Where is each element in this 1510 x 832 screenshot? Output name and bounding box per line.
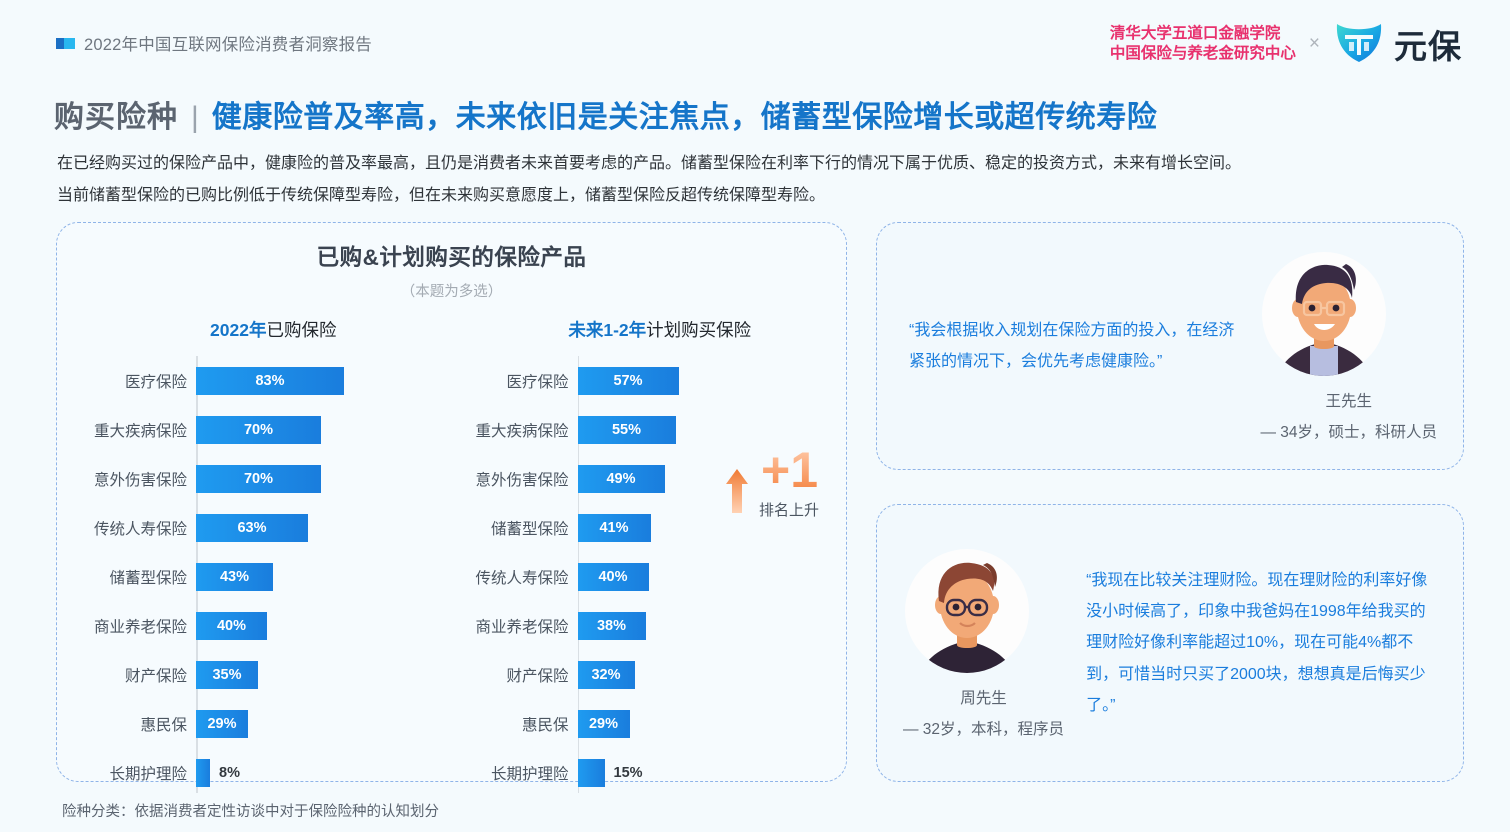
quote-person-meta: — 34岁，硕士，科研人员: [1260, 420, 1437, 442]
chart-bar-value: 55%: [612, 422, 641, 438]
chart-header-left-bold: 2022年: [210, 320, 266, 340]
up-arrow-icon: [725, 467, 749, 520]
chart-bar-track: 55%: [578, 416, 847, 444]
chart-bar-label: 惠民保: [452, 713, 569, 735]
chart-bar-value: 57%: [613, 373, 642, 389]
chart-bar: 57%: [578, 367, 679, 395]
quote-person-name: 周先生: [903, 686, 1064, 708]
chart-bar-label: 财产保险: [57, 664, 187, 686]
chart-bar-track: 40%: [196, 612, 452, 640]
chart-bar-value: 70%: [244, 422, 273, 438]
chart-bar-value: 70%: [244, 471, 273, 487]
partner-line-1: 清华大学五道口金融学院: [1110, 24, 1296, 44]
chart-bar: 55%: [578, 416, 676, 444]
chart-bar-track: 83%: [196, 367, 452, 395]
chart-bar-row: 商业养老保险40%: [57, 601, 452, 650]
quote-card-2-inner: 周先生 — 32岁，本科，程序员 “我现在比较关注理财险。现在理财险的利率好像没…: [877, 505, 1463, 781]
chart-bar: 35%: [196, 661, 258, 689]
chart-bar: 49%: [578, 465, 665, 493]
avatar-male-dark-hair-icon: [1260, 250, 1388, 383]
quote-text: “我会根据收入规划在保险方面的投入，在经济紧张的情况下，会优先考虑健康险。”: [909, 315, 1260, 377]
chart-bar-track: 40%: [578, 563, 847, 591]
chart-bar-label: 储蓄型保险: [452, 517, 569, 539]
chart-bar-label: 商业养老保险: [452, 615, 569, 637]
chart-bar: 70%: [196, 416, 321, 444]
partner-name: 清华大学五道口金融学院 中国保险与养老金研究中心: [1110, 24, 1296, 64]
chart-bar-track: 70%: [196, 465, 452, 493]
chart-bar-row: 长期护理险8%: [57, 748, 452, 797]
chart-bar-track: 38%: [578, 612, 847, 640]
chart-bar-value: 63%: [237, 520, 266, 536]
chart-bar-value: 35%: [212, 667, 241, 683]
chart-bar-label: 传统人寿保险: [57, 517, 187, 539]
chart-bar-value: 40%: [217, 618, 246, 634]
chart-card: 已购&计划购买的保险产品 （本题为多选） 2022年已购保险 未来1-2年计划购…: [56, 222, 847, 782]
chart-panel-planned: 医疗保险57%重大疾病保险55%意外伤害保险49%储蓄型保险41%传统人寿保险4…: [452, 356, 847, 797]
lead-paragraph: 在已经购买过的保险产品中，健康险的普及率最高，且仍是消费者未来首要考虑的产品。储…: [57, 148, 1467, 212]
chart-subtitle: （本题为多选）: [57, 280, 846, 301]
chart-bar-value: 32%: [591, 667, 620, 683]
chart-header-right-bold: 未来1-2年: [568, 320, 646, 340]
chart-header-left-rest: 已购保险: [266, 320, 336, 340]
chart-bar-track: 57%: [578, 367, 847, 395]
quote-card-1-inner: “我会根据收入规划在保险方面的投入，在经济紧张的情况下，会优先考虑健康险。”: [877, 223, 1463, 469]
double-square-icon: [56, 38, 75, 49]
chart-bar-row: 惠民保29%: [452, 699, 847, 748]
brand-logo: 元保: [1333, 18, 1462, 69]
chart-bar-label: 传统人寿保险: [452, 566, 569, 588]
chart-bar-track: 29%: [578, 710, 847, 738]
chart-bar-value: 15%: [614, 765, 643, 781]
chart-bar-label: 意外伤害保险: [452, 468, 569, 490]
header-right: 清华大学五道口金融学院 中国保险与养老金研究中心 × 元保: [1110, 18, 1462, 69]
title-divider: |: [191, 101, 199, 135]
chart-bar-value: 8%: [219, 765, 240, 781]
lead-line-2: 当前储蓄型保险的已购比例低于传统保障型寿险，但在未来购买意愿度上，储蓄型保险反超…: [57, 180, 1467, 212]
chart-bar-label: 长期护理险: [452, 762, 569, 784]
chart-bar-value: 43%: [220, 569, 249, 585]
chart-bar-row: 财产保险35%: [57, 650, 452, 699]
shield-logo-icon: [1333, 18, 1385, 69]
chart-bar-row: 传统人寿保险40%: [452, 552, 847, 601]
chart-bar: 29%: [578, 710, 630, 738]
chart-bar-label: 储蓄型保险: [57, 566, 187, 588]
rank-up-value: +1: [761, 445, 818, 495]
chart-bar: 40%: [196, 612, 267, 640]
title-keyword: 购买险种: [54, 92, 178, 136]
chart-header-left: 2022年已购保险: [57, 317, 460, 342]
chart-bar: [578, 759, 605, 787]
chart-bar-label: 医疗保险: [452, 370, 569, 392]
chart-bar-track: 63%: [196, 514, 452, 542]
rank-up-label: 排名上升: [759, 499, 819, 520]
chart-bar-value: 29%: [589, 716, 618, 732]
chart-bar-row: 重大疾病保险70%: [57, 405, 452, 454]
chart-bar: 83%: [196, 367, 344, 395]
chart-bar-row: 财产保险32%: [452, 650, 847, 699]
title-main: 健康险普及率高，未来依旧是关注焦点，储蓄型保险增长或超传统寿险: [212, 92, 1158, 136]
avatar-male-brown-hair-icon: [903, 547, 1031, 680]
slide-page: 2022年中国互联网保险消费者洞察报告 清华大学五道口金融学院 中国保险与养老金…: [0, 0, 1510, 832]
chart-bar-value: 41%: [599, 520, 628, 536]
quote-card-1: “我会根据收入规划在保险方面的投入，在经济紧张的情况下，会优先考虑健康险。”: [876, 222, 1464, 470]
chart-bar-track: 32%: [578, 661, 847, 689]
chart-bar-track: 29%: [196, 710, 452, 738]
chart-title: 已购&计划购买的保险产品: [57, 240, 846, 272]
chart-bar-track: 35%: [196, 661, 452, 689]
chart-bar-row: 商业养老保险38%: [452, 601, 847, 650]
chart-bar-row: 医疗保险83%: [57, 356, 452, 405]
collab-separator: ×: [1309, 33, 1320, 55]
header-left: 2022年中国互联网保险消费者洞察报告: [56, 31, 372, 55]
quote-person: 王先生 — 34岁，硕士，科研人员: [1260, 250, 1437, 442]
chart-bar-row: 储蓄型保险43%: [57, 552, 452, 601]
quote-person: 周先生 — 32岁，本科，程序员: [903, 547, 1064, 739]
chart-bar: 38%: [578, 612, 646, 640]
chart-bar: 63%: [196, 514, 308, 542]
quote-person-name: 王先生: [1260, 389, 1437, 411]
chart-bar-label: 惠民保: [57, 713, 187, 735]
chart-bar-label: 重大疾病保险: [452, 419, 569, 441]
chart-bar: 29%: [196, 710, 248, 738]
chart-bar-label: 财产保险: [452, 664, 569, 686]
chart-bar: 40%: [578, 563, 649, 591]
chart-bar: 41%: [578, 514, 651, 542]
quote-person-meta: — 32岁，本科，程序员: [903, 717, 1064, 739]
chart-bar-value: 40%: [598, 569, 627, 585]
chart-bar: 70%: [196, 465, 321, 493]
footnote: 险种分类：依据消费者定性访谈中对于保险险种的认知划分: [62, 800, 439, 821]
chart-column-headers: 2022年已购保险 未来1-2年计划购买保险: [57, 317, 846, 342]
chart-bar-label: 意外伤害保险: [57, 468, 187, 490]
chart-bar-row: 医疗保险57%: [452, 356, 847, 405]
rank-up-annotation: +1 排名上升: [717, 451, 845, 533]
chart-bar-value: 29%: [207, 716, 236, 732]
page-title: 购买险种 | 健康险普及率高，未来依旧是关注焦点，储蓄型保险增长或超传统寿险: [54, 92, 1157, 136]
chart-bar-label: 商业养老保险: [57, 615, 187, 637]
chart-bar-track: 8%: [196, 759, 452, 787]
chart-header-right: 未来1-2年计划购买保险: [460, 317, 847, 342]
chart-bar-label: 重大疾病保险: [57, 419, 187, 441]
chart-bar-row: 惠民保29%: [57, 699, 452, 748]
chart-bar-track: 70%: [196, 416, 452, 444]
brand-name: 元保: [1394, 20, 1462, 68]
chart-bar-row: 意外伤害保险70%: [57, 454, 452, 503]
chart-panel-purchased: 医疗保险83%重大疾病保险70%意外伤害保险70%传统人寿保险63%储蓄型保险4…: [57, 356, 452, 797]
chart-bar-label: 长期护理险: [57, 762, 187, 784]
chart-body: 医疗保险83%重大疾病保险70%意外伤害保险70%传统人寿保险63%储蓄型保险4…: [57, 356, 846, 797]
lead-line-1: 在已经购买过的保险产品中，健康险的普及率最高，且仍是消费者未来首要考虑的产品。储…: [57, 148, 1467, 180]
chart-bar-label: 医疗保险: [57, 370, 187, 392]
chart-header-right-rest: 计划购买保险: [646, 320, 751, 340]
chart-bar-value: 38%: [597, 618, 626, 634]
chart-bar-value: 49%: [606, 471, 635, 487]
chart-bar-row: 长期护理险15%: [452, 748, 847, 797]
chart-bar: 43%: [196, 563, 273, 591]
chart-bar-row: 传统人寿保险63%: [57, 503, 452, 552]
quote-text: “我现在比较关注理财险。现在理财险的利率好像没小时候高了，印象中我爸妈在1998…: [1064, 565, 1433, 721]
chart-bar-track: 43%: [196, 563, 452, 591]
chart-bar: 32%: [578, 661, 635, 689]
chart-bar: [196, 759, 210, 787]
report-title: 2022年中国互联网保险消费者洞察报告: [84, 31, 372, 55]
chart-bar-track: 15%: [578, 759, 847, 787]
chart-bar-value: 83%: [255, 373, 284, 389]
partner-line-2: 中国保险与养老金研究中心: [1110, 44, 1296, 64]
quote-card-2: 周先生 — 32岁，本科，程序员 “我现在比较关注理财险。现在理财险的利率好像没…: [876, 504, 1464, 782]
